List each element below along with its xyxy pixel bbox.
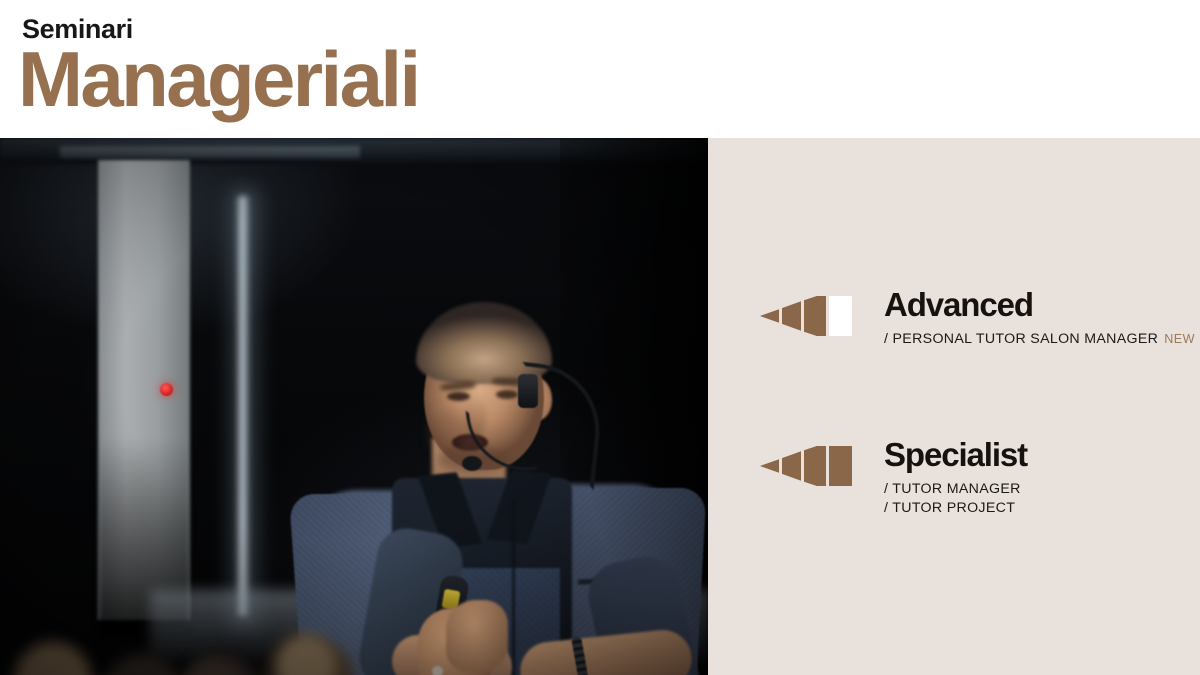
slide-header: Seminari Manageriali <box>0 0 1200 138</box>
level-advanced-text: Advanced / PERSONAL TUTOR SALON MANAGERN… <box>884 288 1195 349</box>
levels-panel: Advanced / PERSONAL TUTOR SALON MANAGERN… <box>708 138 1200 675</box>
course-item[interactable]: / TUTOR MANAGER <box>884 480 1027 499</box>
slide-root: Seminari Manageriali <box>0 0 1200 675</box>
course-item[interactable]: / PERSONAL TUTOR SALON MANAGERNEW <box>884 330 1195 349</box>
course-item[interactable]: / TUTOR PROJECT <box>884 499 1027 518</box>
level-specialist-title: Specialist <box>884 438 1027 471</box>
status-badge-new: NEW <box>1164 332 1195 346</box>
level-specialist-text: Specialist / TUTOR MANAGER / TUTOR PROJE… <box>884 438 1027 518</box>
level-advanced-course-list: / PERSONAL TUTOR SALON MANAGERNEW <box>884 330 1195 349</box>
chevron-advanced-icon <box>760 296 852 336</box>
level-specialist-course-list: / TUTOR MANAGER / TUTOR PROJECT <box>884 480 1027 518</box>
course-label: / TUTOR PROJECT <box>884 500 1015 516</box>
level-advanced-title: Advanced <box>884 288 1195 321</box>
speaker-photo <box>0 138 708 675</box>
photo-vignette <box>0 138 708 675</box>
course-label: / TUTOR MANAGER <box>884 481 1021 497</box>
chevron-specialist-icon <box>760 446 852 486</box>
page-title: Manageriali <box>18 40 419 118</box>
course-label: / PERSONAL TUTOR SALON MANAGER <box>884 331 1158 347</box>
